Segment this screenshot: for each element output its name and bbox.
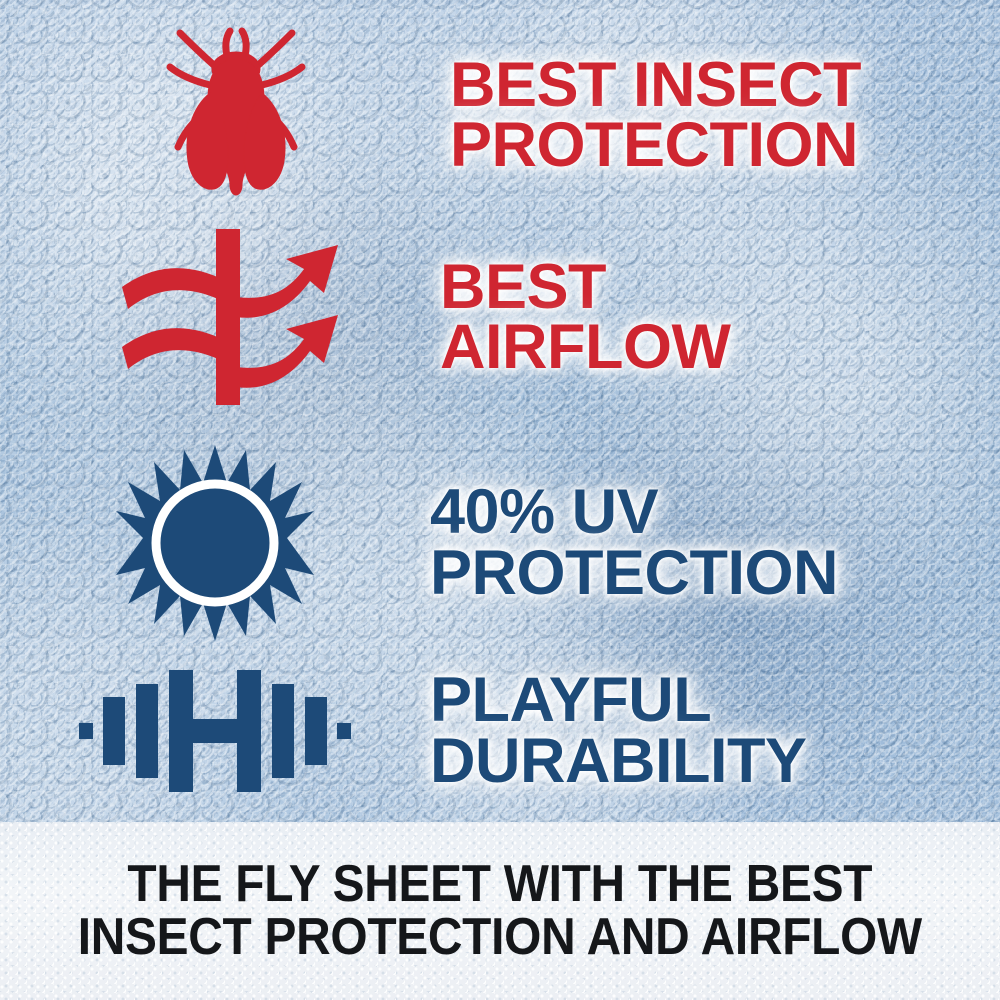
fly-icon	[160, 23, 310, 208]
caption-band: THE FLY SHEET WITH THE BEST INSECT PROTE…	[0, 822, 1000, 1000]
feature-label-insect-protection: BEST INSECT PROTECTION	[450, 55, 986, 176]
feature-label-uv-protection: 40% UV PROTECTION	[430, 482, 986, 603]
label-cell-durability: PLAYFUL DURABILITY	[430, 670, 1000, 791]
icon-cell-fly	[0, 23, 450, 208]
feature-row-airflow: BEST AIRFLOW	[0, 222, 1000, 412]
dumbbell-icon	[79, 666, 351, 796]
feature-label-airflow: BEST AIRFLOW	[440, 257, 986, 378]
label-cell-uv-protection: 40% UV PROTECTION	[430, 482, 1000, 603]
feature-list: BEST INSECT PROTECTION	[0, 0, 1000, 822]
product-feature-infographic: BEST INSECT PROTECTION	[0, 0, 1000, 1000]
icon-cell-sun	[0, 443, 430, 643]
icon-cell-dumbbell	[0, 666, 430, 796]
feature-label-durability: PLAYFUL DURABILITY	[430, 670, 986, 791]
sun-burst-icon	[115, 443, 315, 643]
label-cell-insect-protection: BEST INSECT PROTECTION	[450, 55, 1000, 176]
airflow-arrows-icon	[110, 227, 340, 407]
caption-headline: THE FLY SHEET WITH THE BEST INSECT PROTE…	[78, 858, 922, 964]
feature-row-durability: PLAYFUL DURABILITY	[0, 648, 1000, 813]
label-cell-airflow: BEST AIRFLOW	[440, 257, 1000, 378]
feature-row-uv-protection: 40% UV PROTECTION	[0, 440, 1000, 645]
icon-cell-airflow	[0, 227, 440, 407]
feature-row-insect-protection: BEST INSECT PROTECTION	[0, 20, 1000, 210]
